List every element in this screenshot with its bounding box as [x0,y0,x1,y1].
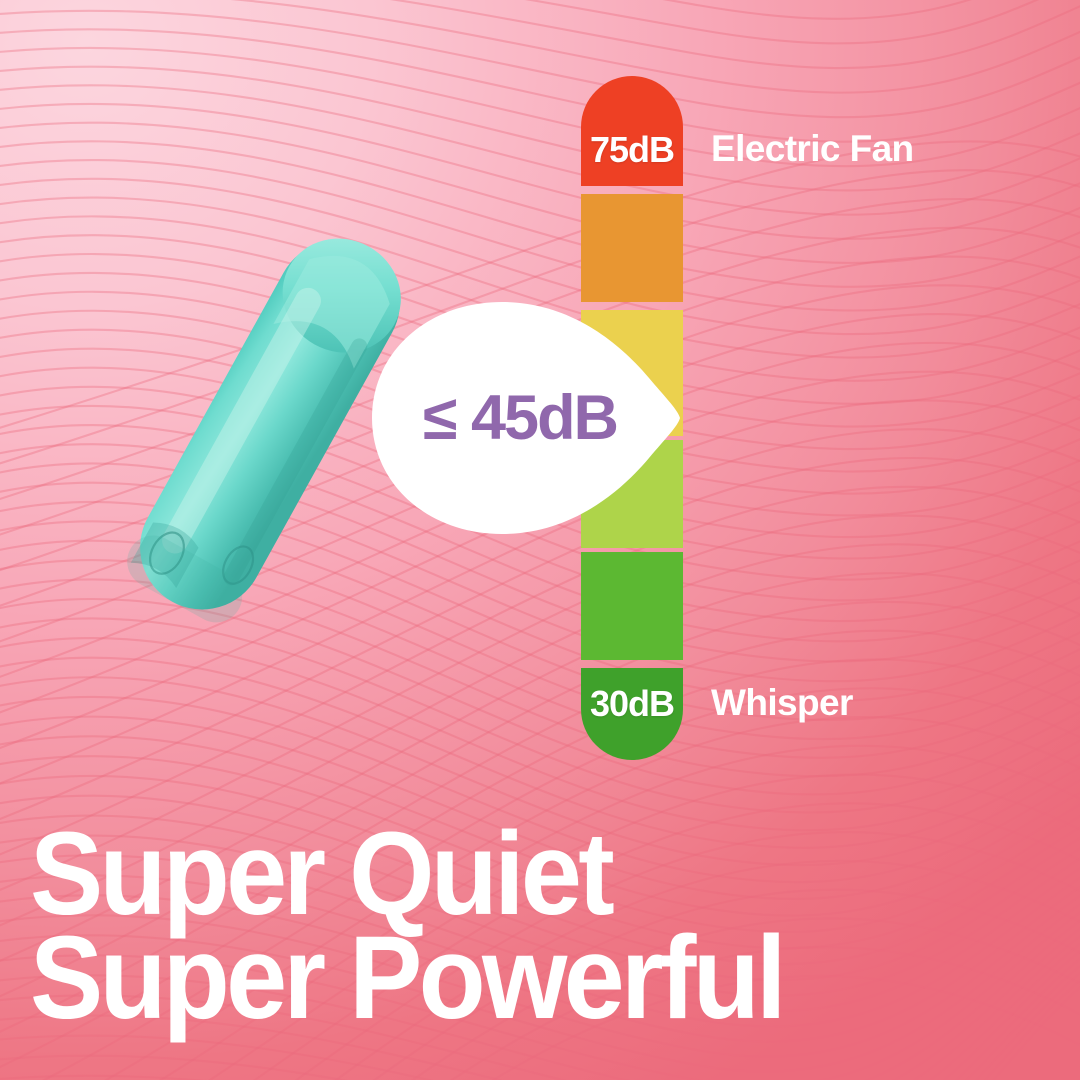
scale-segment-quieter [581,552,683,660]
scale-top-value: 75dB [581,129,683,171]
scale-segment-loud [581,194,683,302]
headline-line-2: Super Powerful [30,926,783,1030]
headline-block: Super Quiet Super Powerful [30,822,839,1030]
headline-line-1: Super Quiet [30,822,783,926]
callout-value-text: ≤ 45dB [366,296,652,540]
scale-top-label: Electric Fan [711,128,914,170]
poster-canvas: 75dB 30dB Electric Fan Whisper ≤ 45dB Su… [0,0,1080,1080]
scale-bottom-value: 30dB [581,683,683,725]
decibel-callout-bubble: ≤ 45dB [366,296,686,540]
scale-bottom-label: Whisper [711,682,853,724]
